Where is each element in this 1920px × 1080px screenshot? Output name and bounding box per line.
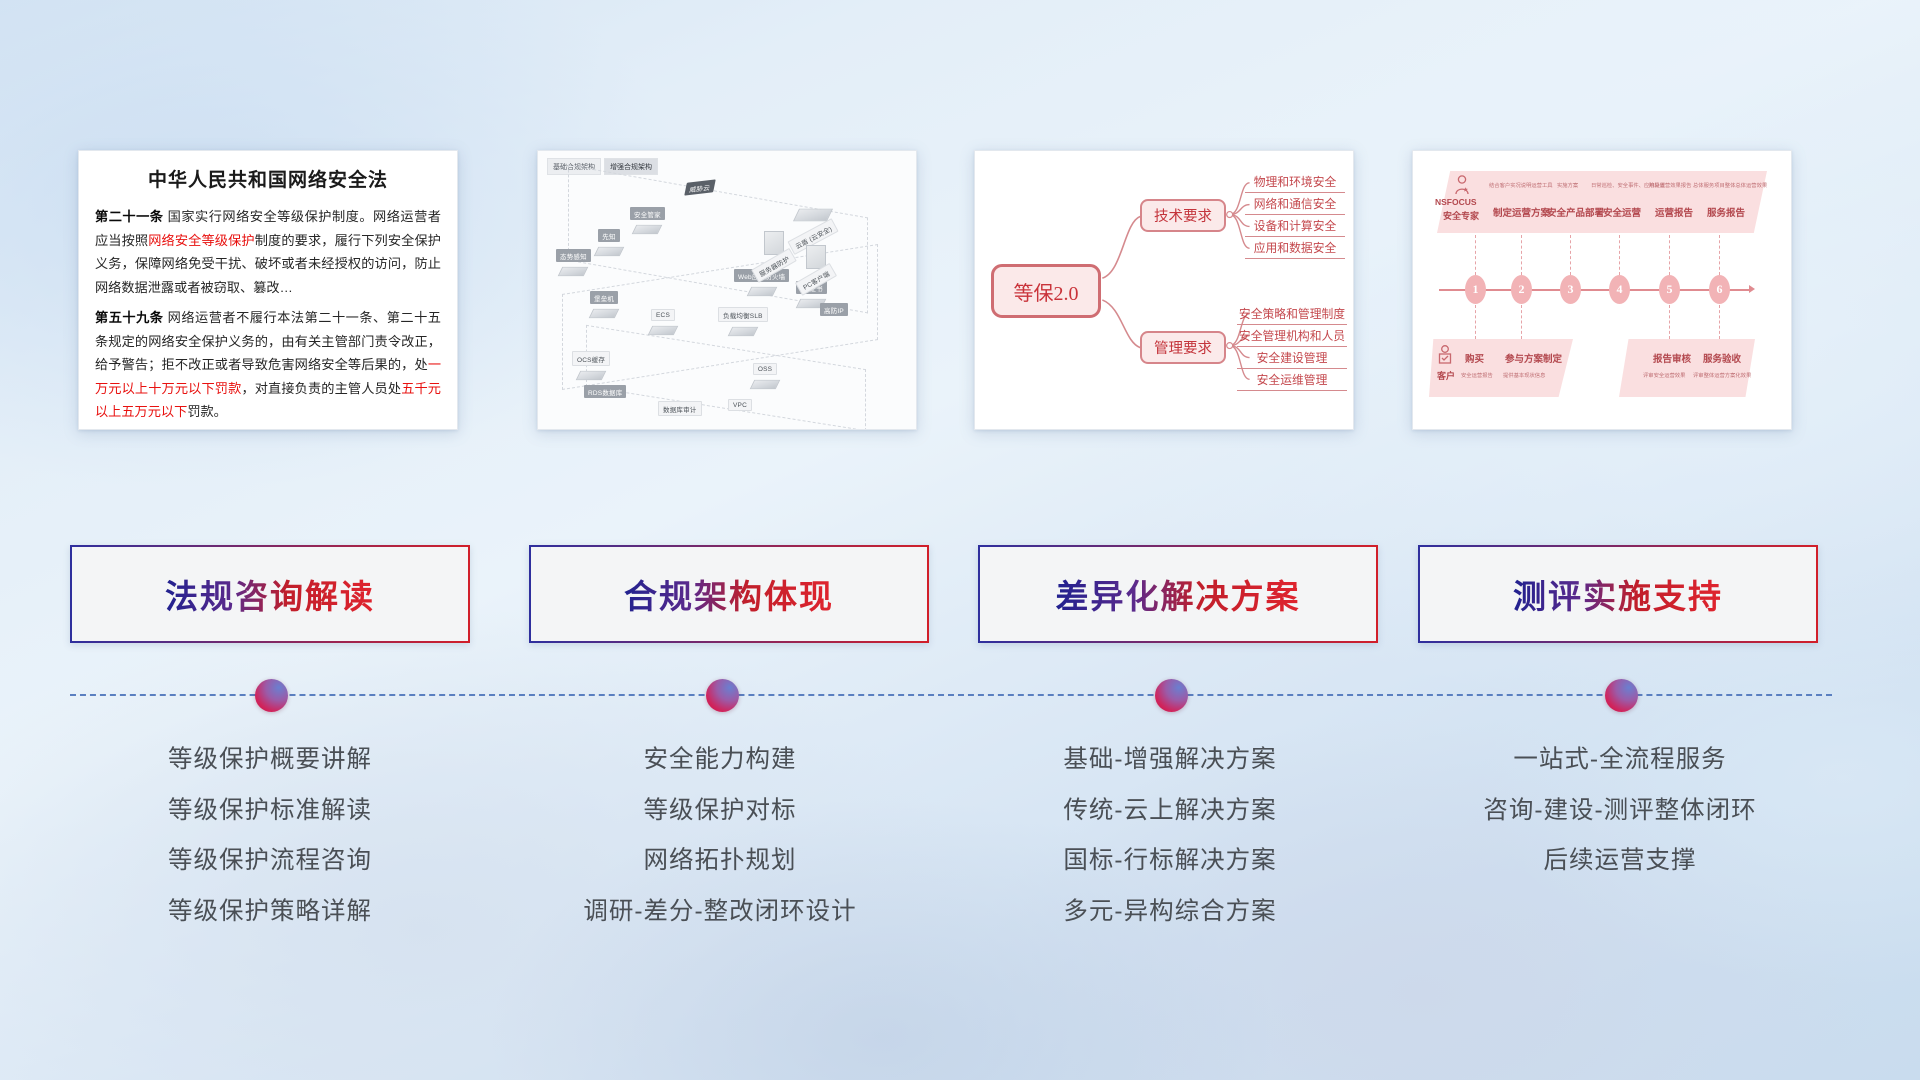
customer-avatar-icon <box>1437 345 1453 372</box>
roadmap-connector-3 <box>1570 235 1571 275</box>
roadmap-connector-b1 <box>1475 305 1476 339</box>
node-label-slb: 负载均衡SLB <box>718 307 768 322</box>
list-item: 一站式-全流程服务 <box>1390 735 1850 786</box>
roadmap-connector-4 <box>1619 235 1620 275</box>
roadmap-connector-1 <box>1475 235 1476 275</box>
law-article-59: 第五十九条 网络运营者不履行本法第二十一条、第二十五条规定的网络安全保护义务的，… <box>95 306 441 424</box>
roadmap-bottom-label-3: 报告审核 <box>1653 351 1691 365</box>
roadmap-top-sub-2: 实施方案 <box>1557 181 1578 189</box>
roadmap-step-4: 4 <box>1609 275 1630 304</box>
roadmap-bottom-sub-4: 评审整体运营方案化效果 <box>1693 371 1751 379</box>
section-titles-row: 法规咨询解读 合规架构体现 差异化解决方案 测评实施支持 <box>0 545 1920 645</box>
reference-cards-row: 中华人民共和国网络安全法 第二十一条 国家实行网络安全等级保护制度。网络运营者应… <box>0 150 1920 440</box>
node-label-situational-awareness: 态势感知 <box>556 249 591 262</box>
list-item: 基础-增强解决方案 <box>940 735 1400 786</box>
node-rds: RDS数据库 <box>584 385 626 398</box>
roadmap-top-label-5: 服务报告 <box>1707 205 1745 219</box>
roadmap-top-label-4: 运营报告 <box>1655 205 1693 219</box>
storage-icon <box>750 380 781 389</box>
mindmap-leaf-network-comm: 网络和通信安全 <box>1245 195 1345 215</box>
list-item: 等级保护策略详解 <box>40 887 500 938</box>
node-server-protection: 服务器防护 <box>752 229 796 273</box>
section-list-1: 等级保护概要讲解 等级保护标准解读 等级保护流程咨询 等级保护策略详解 <box>40 735 500 937</box>
mindmap-leaf-app-data: 应用和数据安全 <box>1245 239 1345 259</box>
roadmap-diagram: NSFOCUS 安全专家 结合客户实况说明运营工具 制定运营方案 实施方案 安全… <box>1413 151 1791 429</box>
list-item: 多元-异构综合方案 <box>940 887 1400 938</box>
node-label-security-butler: 安全管家 <box>630 207 665 220</box>
article-21-seg-2-highlight: 网络安全等级保护 <box>148 233 255 248</box>
node-label-ecs: ECS <box>651 309 675 321</box>
node-label-xianzhi: 先知 <box>598 229 619 242</box>
roadmap-top-label-1: 制定运营方案 <box>1493 205 1550 219</box>
node-label-rds: RDS数据库 <box>584 385 626 398</box>
mindmap-root-node: 等保2.0 <box>991 264 1101 318</box>
roadmap-top-sub-5: 总体服务项目整体总体运营效果 <box>1693 181 1767 189</box>
mindmap-diagram: 等保2.0 技术要求 管理要求 物理和环境安全 网络和通信安全 设备和计算安全 … <box>975 151 1353 429</box>
server-icon <box>746 287 777 296</box>
node-label-threat-cloud: 威胁云 <box>684 179 716 195</box>
section-list-2: 安全能力构建 等级保护对标 网络拓扑规划 调研-差分-整改闭环设计 <box>490 735 950 937</box>
mindmap-leaf-policy-system: 安全策略和管理制度 <box>1237 305 1347 325</box>
timeline-dashed-line <box>70 694 1832 696</box>
node-cloud-shield: 云盾 (云安全) <box>788 203 838 244</box>
customer-role: 客户 <box>1437 369 1455 382</box>
roadmap-customer-band-right <box>1619 339 1755 397</box>
roadmap-step-5: 5 <box>1659 275 1680 304</box>
roadmap-top-sub-4: 阶段运营效果报告 <box>1649 181 1691 189</box>
timeline-dot-4[interactable] <box>1605 679 1638 712</box>
section-title-4: 测评实施支持 <box>1513 570 1723 618</box>
card-mindmap-dengbao: 等保2.0 技术要求 管理要求 物理和环境安全 网络和通信安全 设备和计算安全 … <box>974 150 1354 430</box>
section-title-box-4[interactable]: 测评实施支持 <box>1418 545 1818 643</box>
node-label-anti-ddos-ip: 高防IP <box>820 303 848 316</box>
roadmap-step-6: 6 <box>1709 275 1730 304</box>
node-label-db-audit: 数据库审计 <box>658 401 702 416</box>
vendor-role: 安全专家 <box>1443 209 1479 222</box>
person-star-icon <box>1453 175 1471 195</box>
law-content: 中华人民共和国网络安全法 第二十一条 国家实行网络安全等级保护制度。网络运营者应… <box>79 151 457 430</box>
list-item: 等级保护对标 <box>490 786 950 837</box>
architecture-diagram: 基础合规架构 增强合规架构 威胁云 安全管家 先知 态势感知 <box>538 151 916 429</box>
section-title-2: 合规架构体现 <box>624 570 834 618</box>
timeline-dot-3[interactable] <box>1155 679 1188 712</box>
node-oss: OSS <box>752 363 778 392</box>
section-list-3: 基础-增强解决方案 传统-云上解决方案 国标-行标解决方案 多元-异构综合方案 <box>940 735 1400 937</box>
node-db-audit: 数据库审计 <box>658 401 702 416</box>
mindmap-leaf-org-personnel: 安全管理机构和人员 <box>1237 327 1347 347</box>
node-threat-cloud: 威胁云 <box>686 181 714 194</box>
list-item: 后续运营支撑 <box>1390 836 1850 887</box>
mindmap-leaf-device-compute: 设备和计算安全 <box>1245 217 1345 237</box>
node-situational-awareness: 态势感知 <box>556 249 591 279</box>
server-icon <box>589 309 620 318</box>
roadmap-connector-b2 <box>1521 305 1522 339</box>
roadmap-connector-5 <box>1669 235 1670 275</box>
roadmap-top-sub-1: 结合客户实况说明运营工具 <box>1489 181 1553 189</box>
timeline <box>70 694 1832 698</box>
list-item: 传统-云上解决方案 <box>940 786 1400 837</box>
server-icon <box>558 267 589 276</box>
list-item: 等级保护流程咨询 <box>40 836 500 887</box>
roadmap-bottom-sub-2: 提供基本现状信息 <box>1503 371 1545 379</box>
node-label-oss: OSS <box>753 363 777 375</box>
node-security-butler: 安全管家 <box>630 207 665 237</box>
node-label-ocs-cache: OCS缓存 <box>572 351 610 366</box>
list-item: 安全能力构建 <box>490 735 950 786</box>
section-title-box-3[interactable]: 差异化解决方案 <box>978 545 1378 643</box>
list-item: 等级保护标准解读 <box>40 786 500 837</box>
roadmap-bottom-label-2: 参与方案制定 <box>1505 351 1562 365</box>
section-title-3: 差异化解决方案 <box>1056 570 1301 618</box>
roadmap-axis-arrow-icon <box>1749 285 1755 293</box>
node-vpc: VPC <box>728 399 752 411</box>
server-icon <box>632 225 663 234</box>
article-59-label: 第五十九条 <box>95 310 163 325</box>
timeline-dot-2[interactable] <box>706 679 739 712</box>
node-ocs-cache: OCS缓存 <box>572 351 610 383</box>
node-slb: 负载均衡SLB <box>718 307 768 339</box>
server-icon <box>728 327 759 336</box>
node-xianzhi: 先知 <box>596 229 622 259</box>
card-compliance-architecture: 基础合规架构 增强合规架构 威胁云 安全管家 先知 态势感知 <box>537 150 917 430</box>
card-service-roadmap: NSFOCUS 安全专家 结合客户实况说明运营工具 制定运营方案 实施方案 安全… <box>1412 150 1792 430</box>
mindmap-branch-management: 管理要求 <box>1140 331 1226 364</box>
server-icon <box>648 326 679 335</box>
roadmap-connector-2 <box>1521 235 1522 275</box>
roadmap-top-label-3: 安全运营 <box>1603 205 1641 219</box>
roadmap-connector-b4 <box>1719 305 1720 339</box>
list-item: 等级保护概要讲解 <box>40 735 500 786</box>
mindmap-leaf-ops-mgmt: 安全运维管理 <box>1237 371 1347 391</box>
article-21-label: 第二十一条 <box>95 209 163 224</box>
node-ecs: ECS <box>650 309 676 338</box>
roadmap-bottom-sub-3: 评审安全运营效果 <box>1643 371 1685 379</box>
roadmap-top-label-2: 安全产品部署 <box>1547 205 1604 219</box>
law-title: 中华人民共和国网络安全法 <box>95 165 441 192</box>
roadmap-bottom-label-1: 购买 <box>1465 351 1484 365</box>
mindmap-leaf-construction-mgmt: 安全建设管理 <box>1237 349 1347 369</box>
roadmap-bottom-sub-1: 安全运营报告 <box>1461 371 1493 379</box>
node-label-bastion-host: 堡垒机 <box>590 291 618 304</box>
article-59-seg-5: 罚款。 <box>187 404 227 419</box>
roadmap-step-3: 3 <box>1560 275 1581 304</box>
section-title-1: 法规咨询解读 <box>165 570 375 618</box>
person-check-icon <box>1437 345 1453 367</box>
roadmap-connector-b3 <box>1669 305 1670 339</box>
roadmap-step-2: 2 <box>1511 275 1532 304</box>
law-article-21: 第二十一条 国家实行网络安全等级保护制度。网络运营者应当按照网络安全等级保护制度… <box>95 205 441 299</box>
list-item: 国标-行标解决方案 <box>940 836 1400 887</box>
section-title-box-2[interactable]: 合规架构体现 <box>529 545 929 643</box>
mindmap-branch-technical: 技术要求 <box>1140 199 1226 232</box>
roadmap-bottom-label-4: 服务验收 <box>1703 351 1741 365</box>
list-item: 调研-差分-整改闭环设计 <box>490 887 950 938</box>
cache-icon <box>576 371 607 380</box>
roadmap-step-1: 1 <box>1465 275 1486 304</box>
server-icon <box>594 247 625 256</box>
section-title-box-1[interactable]: 法规咨询解读 <box>70 545 470 643</box>
section-list-4: 一站式-全流程服务 咨询-建设-测评整体闭环 后续运营支撑 <box>1390 735 1850 887</box>
mindmap-leaf-physical-env: 物理和环境安全 <box>1245 173 1345 193</box>
node-bastion-host: 堡垒机 <box>590 291 618 321</box>
list-item: 咨询-建设-测评整体闭环 <box>1390 786 1850 837</box>
node-label-vpc: VPC <box>728 399 752 411</box>
list-item: 网络拓扑规划 <box>490 836 950 887</box>
roadmap-connector-6 <box>1719 235 1720 275</box>
node-anti-ddos-ip: 高防IP <box>820 303 848 316</box>
timeline-dot-1[interactable] <box>255 679 288 712</box>
vendor-name: NSFOCUS <box>1435 197 1477 207</box>
card-cybersecurity-law: 中华人民共和国网络安全法 第二十一条 国家实行网络安全等级保护制度。网络运营者应… <box>78 150 458 430</box>
node-pc-client: PC客户端 <box>796 243 836 287</box>
article-59-seg-3: ，对直接负责的主管人员处 <box>241 381 401 396</box>
